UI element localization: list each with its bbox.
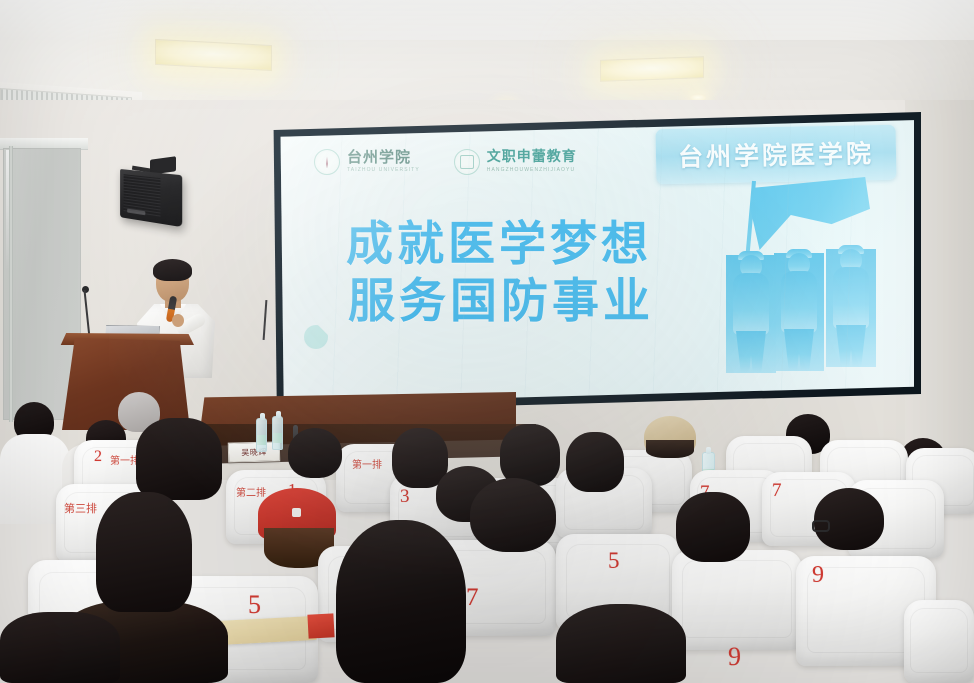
water-bottle-icon xyxy=(256,418,267,452)
lecture-hall-photo: 台州学院 TAIZHOU UNIVERSITY 文职申蕾教育 HANGZHOUW… xyxy=(0,0,974,683)
audience-head xyxy=(288,428,342,478)
red-folder xyxy=(307,613,334,638)
presenter-hand xyxy=(172,314,184,327)
audience-head xyxy=(136,418,222,500)
audience-head xyxy=(96,492,192,612)
audience-hair xyxy=(646,440,694,458)
slide-badge: 台州学院医学院 xyxy=(655,125,896,185)
chair[interactable] xyxy=(904,600,974,683)
flag-icon xyxy=(750,177,870,253)
logo-taizhou-university: 台州学院 TAIZHOU UNIVERSITY xyxy=(314,149,420,175)
window-mullion xyxy=(9,146,13,422)
water-bottle-icon xyxy=(272,416,283,450)
education-seal-icon xyxy=(454,149,480,175)
logo-label-en: TAIZHOU UNIVERSITY xyxy=(347,167,420,173)
logo-wenzhi-education: 文职申蕾教育 HANGZHOUWENZHIJIAOYU xyxy=(454,149,577,175)
slide-badge-text: 台州学院医学院 xyxy=(678,134,875,174)
audience-head xyxy=(566,432,624,492)
soldiers-flag-graphic xyxy=(722,177,890,373)
ceiling-light-panel xyxy=(600,56,704,82)
chair[interactable] xyxy=(672,550,802,650)
cap-buckle xyxy=(292,508,301,517)
audience-head-foreground xyxy=(0,612,120,683)
soldier-silhouette-icon xyxy=(726,255,776,373)
slide-logo-row: 台州学院 TAIZHOU UNIVERSITY 文职申蕾教育 HANGZHOUW… xyxy=(314,149,577,175)
headline-line-1: 成就医学梦想 xyxy=(346,217,654,274)
audience-head xyxy=(676,492,750,562)
audience-head xyxy=(500,424,560,486)
eyeglasses-icon xyxy=(812,520,830,532)
presentation-slide: 台州学院 TAIZHOU UNIVERSITY 文职申蕾教育 HANGZHOUW… xyxy=(278,119,914,405)
audience-head xyxy=(470,478,556,552)
logo-label-cn: 台州学院 xyxy=(347,151,420,167)
projection-screen: 台州学院 TAIZHOU UNIVERSITY 文职申蕾教育 HANGZHOUW… xyxy=(271,112,921,412)
audience-head-foreground xyxy=(556,604,686,683)
wall-speaker xyxy=(120,169,182,227)
headline-line-2: 服务国防事业 xyxy=(348,274,654,331)
university-crest-icon xyxy=(314,149,340,175)
soldier-silhouette-icon xyxy=(774,253,824,371)
logo-label-cn: 文职申蕾教育 xyxy=(487,151,577,166)
decorative-circle xyxy=(304,325,328,349)
audience-head xyxy=(814,488,884,550)
screen-surface: 台州学院 TAIZHOU UNIVERSITY 文职申蕾教育 HANGZHOUW… xyxy=(278,119,914,405)
audience-head-foreground xyxy=(336,520,466,683)
soldier-silhouette-icon xyxy=(826,249,876,367)
presenter-hair xyxy=(153,259,192,281)
slide-headline: 成就医学梦想 服务国防事业 xyxy=(346,217,654,331)
logo-label-en: HANGZHOUWENZHIJIAOYU xyxy=(487,167,577,173)
